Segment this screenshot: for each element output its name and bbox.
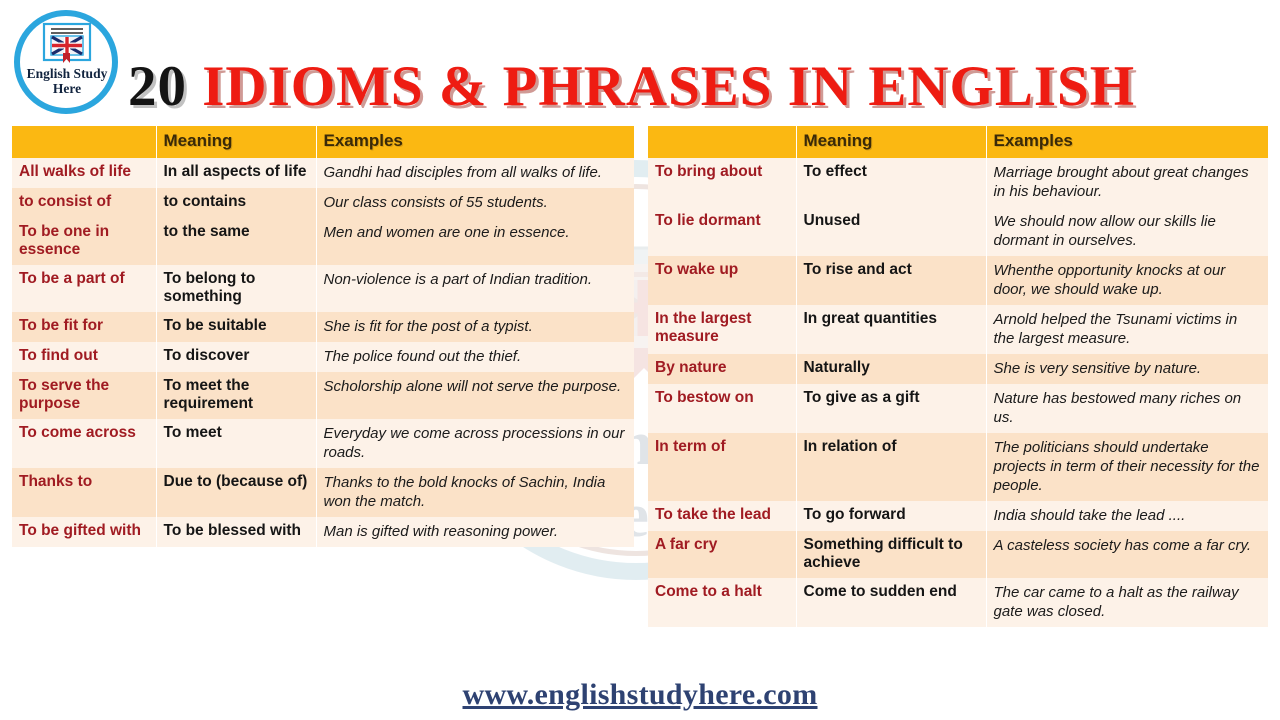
cell-meaning: To rise and act [796,256,986,305]
cell-meaning: To give as a gift [796,384,986,433]
logo-text-line1: English Study [12,66,122,81]
cell-example: Our class consists of 55 students. [316,188,634,218]
column-header-examples: Examples [316,126,634,158]
table-row: To find outTo discoverThe police found o… [12,342,634,372]
table-header-row: Meaning Examples [648,126,1268,158]
table-row: To be one in essenceto the sameMen and w… [12,218,634,265]
cell-example: Whenthe opportunity knocks at our door, … [986,256,1268,305]
cell-meaning: To belong to something [156,265,316,312]
cell-meaning: To be blessed with [156,517,316,547]
table-row: All walks of lifeIn all aspects of lifeG… [12,158,634,188]
cell-idiom: To bestow on [648,384,796,433]
cell-meaning: In all aspects of life [156,158,316,188]
cell-idiom: To find out [12,342,156,372]
table-row: To lie dormantUnusedWe should now allow … [648,207,1268,256]
cell-meaning: Come to sudden end [796,578,986,627]
cell-idiom: To be one in essence [12,218,156,265]
cell-meaning: To meet [156,419,316,468]
column-header-idiom [648,126,796,158]
table-row: To bring aboutTo effectMarriage brought … [648,158,1268,207]
column-header-idiom [12,126,156,158]
cell-idiom: To bring about [648,158,796,207]
cell-meaning: To meet the requirement [156,372,316,419]
cell-meaning: To discover [156,342,316,372]
cell-meaning: To effect [796,158,986,207]
cell-example: Thanks to the bold knocks of Sachin, Ind… [316,468,634,517]
logo-text: English Study Here [12,66,122,96]
cell-meaning: Naturally [796,354,986,384]
title-number: 20 [128,55,187,118]
cell-meaning: To go forward [796,501,986,531]
cell-example: India should take the lead .... [986,501,1268,531]
table-row: to consist ofto containsOur class consis… [12,188,634,218]
cell-idiom: To be gifted with [12,517,156,547]
table-row: To be fit forTo be suitableShe is fit fo… [12,312,634,342]
cell-example: The car came to a halt as the railway ga… [986,578,1268,627]
table-row: To be a part ofTo belong to somethingNon… [12,265,634,312]
cell-idiom: To be fit for [12,312,156,342]
cell-idiom: To serve the purpose [12,372,156,419]
cell-meaning: Something difficult to achieve [796,531,986,578]
cell-meaning: Unused [796,207,986,256]
table-row: To serve the purposeTo meet the requirem… [12,372,634,419]
brand-logo: English Study Here [12,8,128,120]
cell-idiom: All walks of life [12,158,156,188]
table-row: Come to a haltCome to sudden endThe car … [648,578,1268,627]
table-body-left: All walks of lifeIn all aspects of lifeG… [12,158,634,547]
cell-meaning: In relation of [796,433,986,501]
cell-example: Men and women are one in essence. [316,218,634,265]
table-row: By natureNaturallyShe is very sensitive … [648,354,1268,384]
cell-idiom: Thanks to [12,468,156,517]
cell-example: Everyday we come across processions in o… [316,419,634,468]
cell-meaning: To be suitable [156,312,316,342]
table-row: In term ofIn relation ofThe politicians … [648,433,1268,501]
idioms-table-left: Meaning Examples All walks of lifeIn all… [12,126,634,547]
cell-idiom: A far cry [648,531,796,578]
title-words: IDIOMS & PHRASES IN ENGLISH [187,55,1135,118]
cell-idiom: to consist of [12,188,156,218]
table-row: To bestow onTo give as a giftNature has … [648,384,1268,433]
cell-meaning: In great quantities [796,305,986,354]
open-book-icon [42,22,92,64]
website-url-link[interactable]: www.englishstudyhere.com [463,678,818,711]
cell-example: She is fit for the post of a typist. [316,312,634,342]
cell-example: Scholorship alone will not serve the pur… [316,372,634,419]
cell-example: Marriage brought about great changes in … [986,158,1268,207]
cell-example: Gandhi had disciples from all walks of l… [316,158,634,188]
cell-idiom: To be a part of [12,265,156,312]
cell-example: She is very sensitive by nature. [986,354,1268,384]
table-row: In the largest measureIn great quantitie… [648,305,1268,354]
column-header-meaning: Meaning [796,126,986,158]
cell-example: A casteless society has come a far cry. [986,531,1268,578]
cell-example: The politicians should undertake project… [986,433,1268,501]
cell-idiom: To lie dormant [648,207,796,256]
cell-idiom: By nature [648,354,796,384]
cell-example: We should now allow our skills lie dorma… [986,207,1268,256]
table-row: To come acrossTo meetEveryday we come ac… [12,419,634,468]
table-row: Thanks toDue to (because of)Thanks to th… [12,468,634,517]
cell-meaning: to contains [156,188,316,218]
column-header-meaning: Meaning [156,126,316,158]
cell-idiom: To take the lead [648,501,796,531]
cell-example: The police found out the thief. [316,342,634,372]
page-footer: www.englishstudyhere.com [0,678,1280,712]
column-header-examples: Examples [986,126,1268,158]
table-row: A far crySomething difficult to achieveA… [648,531,1268,578]
table-row: To be gifted withTo be blessed withMan i… [12,517,634,547]
cell-idiom: In term of [648,433,796,501]
page-title: 20 IDIOMS & PHRASES IN ENGLISH [128,54,1135,122]
cell-idiom: Come to a halt [648,578,796,627]
table-row: To wake upTo rise and actWhenthe opportu… [648,256,1268,305]
cell-example: Arnold helped the Tsunami victims in the… [986,305,1268,354]
logo-text-line2: Here [12,81,122,96]
table-header-row: Meaning Examples [12,126,634,158]
cell-meaning: Due to (because of) [156,468,316,517]
cell-idiom: To come across [12,419,156,468]
cell-example: Man is gifted with reasoning power. [316,517,634,547]
cell-example: Non-violence is a part of Indian traditi… [316,265,634,312]
idioms-table-right: Meaning Examples To bring aboutTo effect… [648,126,1268,627]
cell-meaning: to the same [156,218,316,265]
table-body-right: To bring aboutTo effectMarriage brought … [648,158,1268,627]
cell-idiom: To wake up [648,256,796,305]
cell-example: Nature has bestowed many riches on us. [986,384,1268,433]
page-header: English Study Here 20 IDIOMS & PHRASES I… [0,0,1280,126]
table-row: To take the leadTo go forwardIndia shoul… [648,501,1268,531]
cell-idiom: In the largest measure [648,305,796,354]
